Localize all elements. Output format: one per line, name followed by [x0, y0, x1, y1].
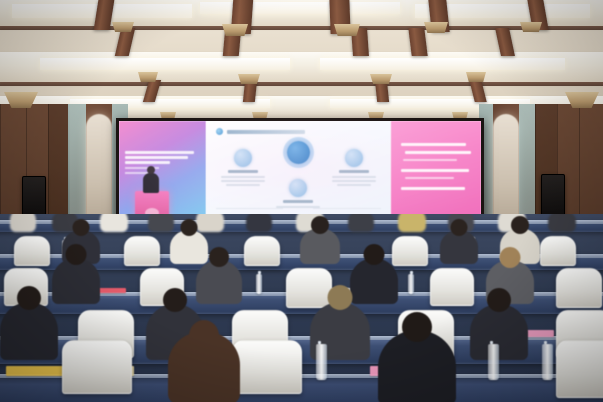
slide-right-text-line: [401, 143, 466, 146]
person: [548, 214, 576, 232]
water-bottle: [256, 274, 262, 294]
ceiling-corbel: [370, 74, 392, 84]
chair: [392, 236, 428, 266]
person: [470, 304, 528, 360]
person: [350, 258, 398, 304]
slide-right-panel: [391, 121, 482, 223]
diagram-node-left: [214, 149, 272, 188]
node-text-bar: [221, 176, 265, 178]
ceiling-corbel: [466, 72, 486, 82]
person: [440, 230, 478, 264]
slide-right-text-line: [405, 151, 472, 154]
slide-left-panel: [119, 121, 206, 223]
ceiling-corbel: [520, 22, 542, 32]
slide-right-text-line: [405, 177, 455, 179]
ceiling-beam: [408, 28, 427, 56]
ceiling-corbel: [334, 24, 360, 36]
person: [0, 302, 58, 360]
person: [10, 214, 36, 232]
person: [52, 258, 100, 304]
node-text-bar: [332, 176, 376, 178]
chair: [556, 268, 602, 308]
person: [100, 214, 128, 232]
circle-icon: [289, 179, 307, 197]
chair: [232, 340, 302, 394]
title-circle-icon: [216, 128, 223, 135]
water-bottle: [542, 344, 553, 380]
node-text-bar: [332, 180, 376, 182]
presenter-head: [147, 166, 155, 174]
grid-icon: [345, 149, 363, 167]
slide-left-title: [125, 151, 200, 174]
chair: [244, 236, 280, 266]
diagram-node-bottom: [269, 179, 327, 210]
water-bottle: [408, 274, 414, 294]
chair: [124, 236, 160, 266]
conference-hall-photo: [0, 0, 603, 402]
node-label-bar: [283, 200, 313, 203]
chair: [540, 236, 576, 266]
ceiling-light-strip: [40, 58, 290, 70]
slide-right-text-line: [403, 159, 457, 161]
ceiling-corbel: [138, 72, 158, 82]
screen-surface: [119, 121, 481, 223]
person: [170, 230, 208, 264]
led-wall-screen[interactable]: [116, 118, 484, 226]
chair: [14, 236, 50, 266]
ceiling-trim-1: [0, 26, 603, 30]
ceiling-light-strip: [200, 2, 400, 14]
ceiling-corbel: [424, 22, 448, 33]
person: [196, 260, 242, 304]
node-label-bar: [228, 170, 258, 173]
slide-divider: [313, 208, 381, 209]
node-text-bar: [221, 180, 265, 182]
slide-center-panel: [206, 121, 391, 223]
title-text-bar: [227, 130, 305, 134]
person: [168, 332, 240, 402]
ceiling-corbel: [112, 22, 134, 32]
node-text-bar: [337, 184, 371, 186]
chair: [556, 340, 603, 398]
node-text-bar: [226, 184, 260, 186]
ceiling-corbel: [238, 74, 260, 84]
node-label-bar: [339, 170, 369, 173]
water-bottle: [316, 344, 327, 380]
chair: [286, 268, 332, 308]
shield-icon: [287, 141, 310, 164]
presenter-figure: [143, 173, 159, 193]
person: [398, 214, 426, 232]
water-bottle: [488, 344, 499, 380]
chair: [430, 268, 474, 306]
slide-right-text-line: [401, 187, 466, 190]
slide-right-text-line: [401, 169, 470, 172]
diagram-node-center: [276, 141, 320, 167]
person: [148, 214, 174, 232]
seated-audience: [0, 214, 603, 402]
person: [196, 214, 224, 232]
paper-handout: [6, 366, 68, 376]
diagram-node-right: [325, 149, 383, 188]
person: [300, 228, 340, 264]
chair: [62, 340, 132, 394]
person: [246, 214, 272, 232]
person: [348, 214, 374, 232]
slide-center-title: [216, 128, 305, 135]
circle-icon: [234, 149, 252, 167]
person: [378, 330, 456, 402]
slide-divider: [216, 208, 284, 209]
ceiling-light-strip: [320, 58, 565, 70]
ceiling-trim-2: [0, 82, 603, 86]
ceiling-corbel: [222, 24, 248, 36]
